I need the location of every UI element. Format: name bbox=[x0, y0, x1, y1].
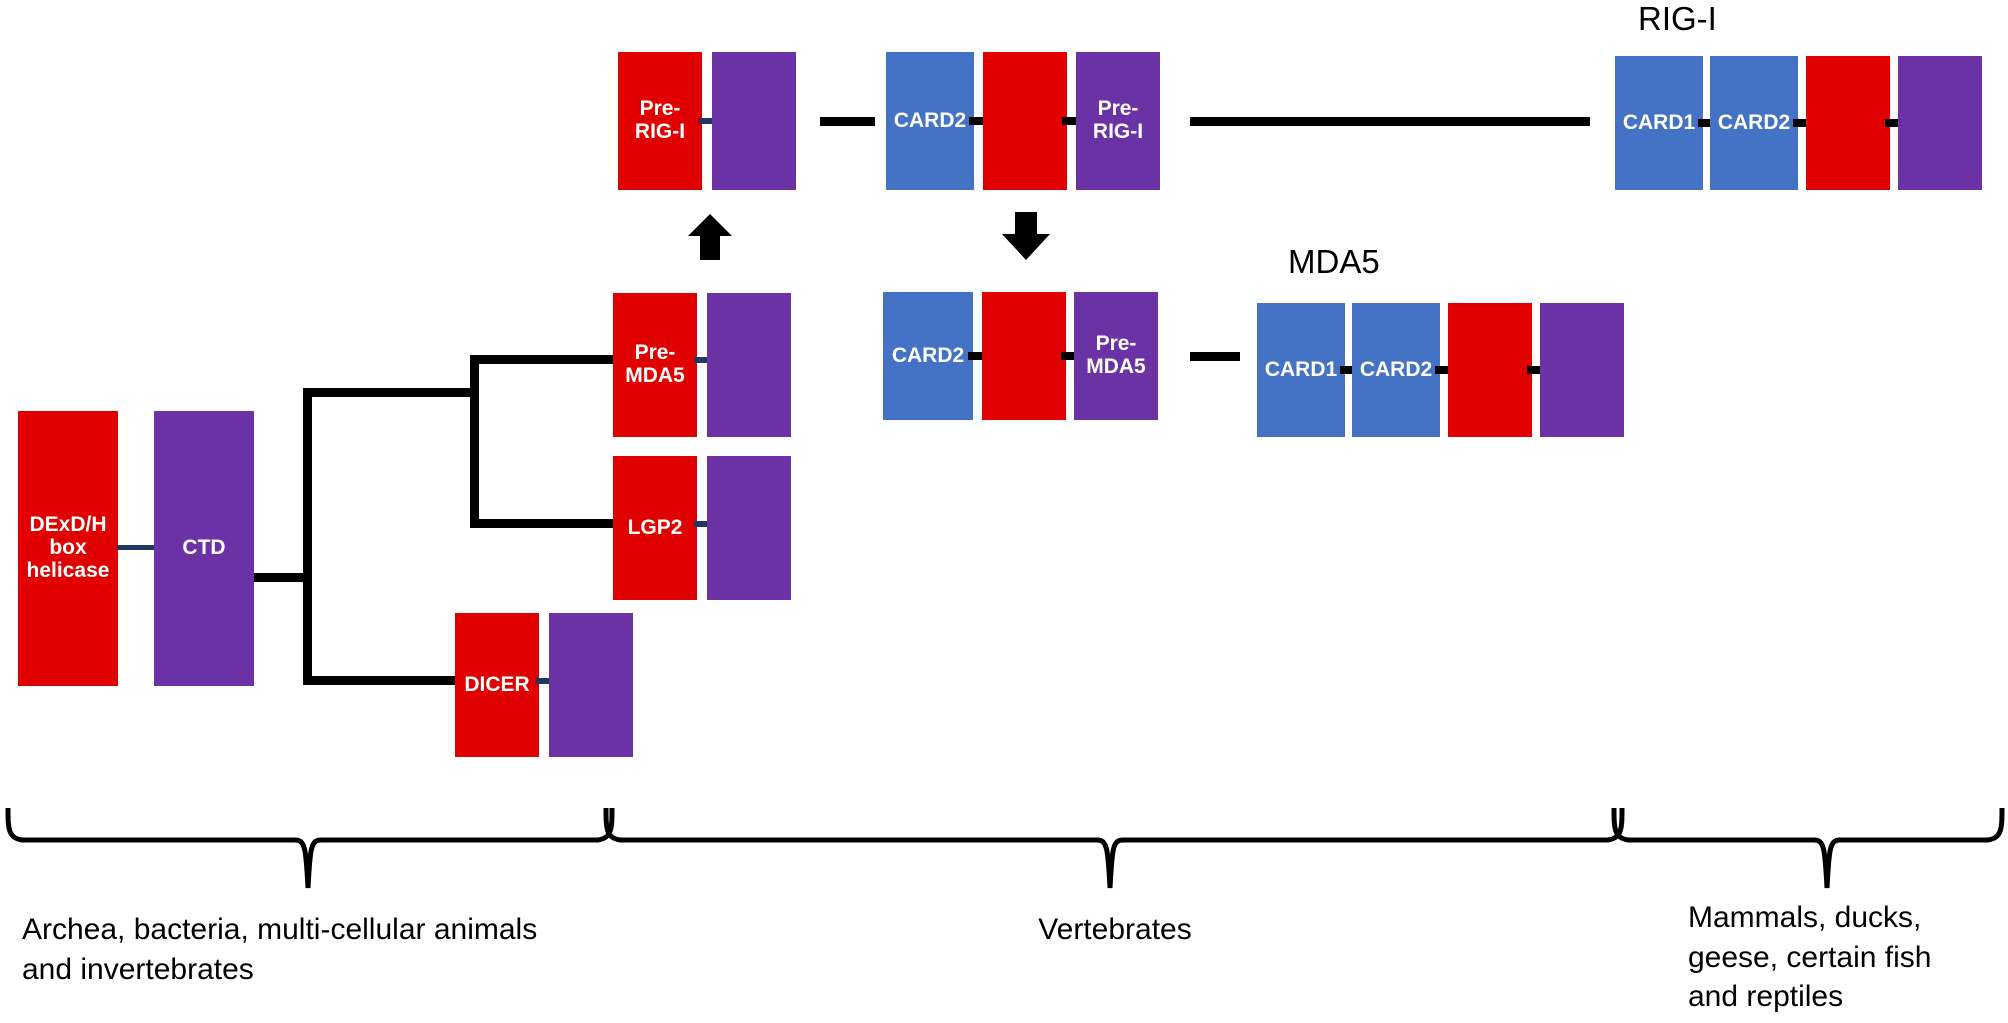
connector-intermediate-to-mda5 bbox=[1190, 352, 1240, 361]
box-rig-i-ctd bbox=[1898, 56, 1982, 190]
box-pre-rig-i: Pre- RIG-I bbox=[618, 52, 702, 190]
tree-branch-upper-vertical bbox=[470, 355, 479, 528]
box-intermediate-rig-i-card2: CARD2 bbox=[886, 52, 974, 190]
box-mda5-helicase bbox=[1448, 303, 1532, 437]
box-rig-i-card2: CARD2 bbox=[1710, 56, 1798, 190]
box-label: Pre- MDA5 bbox=[623, 342, 687, 387]
connector-intermediate-to-rig-i bbox=[1190, 117, 1590, 126]
up-arrow bbox=[686, 212, 734, 262]
box-label: CARD2 bbox=[1358, 359, 1434, 382]
box-intermediate-pre-mda5-ctd: Pre- MDA5 bbox=[1074, 292, 1158, 420]
box-label: DICER bbox=[462, 674, 531, 697]
brace-archea bbox=[0, 800, 620, 900]
box-pre-mda5: Pre- MDA5 bbox=[613, 293, 697, 437]
box-rig-i-helicase bbox=[1806, 56, 1890, 190]
box-label: Pre- RIG-I bbox=[1091, 98, 1145, 143]
box-label: CTD bbox=[180, 537, 227, 560]
box-mda5-ctd bbox=[1540, 303, 1624, 437]
brace-label-archea: Archea, bacteria, multi-cellular animals… bbox=[22, 910, 642, 989]
box-mda5-card2: CARD2 bbox=[1352, 303, 1440, 437]
box-rig-i-card1: CARD1 bbox=[1615, 56, 1703, 190]
box-label: CARD2 bbox=[890, 345, 966, 368]
brace-vertebrates bbox=[600, 800, 1630, 900]
box-intermediate-mda5-helicase bbox=[982, 292, 1066, 420]
box-intermediate-mda5-card2: CARD2 bbox=[883, 292, 973, 420]
brace-label-mammals: Mammals, ducks, geese, certain fish and … bbox=[1688, 898, 2008, 1017]
tree-leaf-lgp2 bbox=[470, 519, 618, 528]
tree-root-vertical bbox=[303, 388, 312, 685]
box-label: LGP2 bbox=[626, 517, 685, 540]
tree-root-stem bbox=[254, 573, 309, 582]
down-arrow bbox=[1000, 210, 1052, 262]
box-dicer: DICER bbox=[455, 613, 539, 757]
box-label: CARD2 bbox=[1716, 112, 1792, 135]
box-dexdh-box-helicase: DExD/H box helicase bbox=[18, 411, 118, 686]
box-pre-mda5-ctd bbox=[707, 293, 791, 437]
link-helicase-ctd bbox=[117, 545, 155, 550]
box-ctd: CTD bbox=[154, 411, 254, 686]
tree-leaf-pre-mda5 bbox=[470, 355, 618, 364]
box-label: CARD1 bbox=[1263, 359, 1339, 382]
box-label: Pre- MDA5 bbox=[1084, 333, 1148, 378]
diagram-canvas: DExD/H box helicase CTD Pre- MDA5 LGP2 D… bbox=[0, 0, 2008, 1023]
box-label: DExD/H box helicase bbox=[25, 514, 112, 582]
box-pre-rig-i-ctd bbox=[712, 52, 796, 190]
box-intermediate-rig-i-helicase bbox=[983, 52, 1067, 190]
box-label: CARD1 bbox=[1621, 112, 1697, 135]
box-lgp2-ctd bbox=[707, 456, 791, 600]
box-label: CARD2 bbox=[892, 110, 968, 133]
box-lgp2: LGP2 bbox=[613, 456, 697, 600]
brace-mammals bbox=[1608, 800, 2008, 900]
brace-label-vertebrates: Vertebrates bbox=[600, 910, 1630, 950]
box-mda5-card1: CARD1 bbox=[1257, 303, 1345, 437]
box-dicer-ctd bbox=[549, 613, 633, 757]
label-rig-i: RIG-I bbox=[1638, 0, 1717, 38]
box-label: Pre- RIG-I bbox=[633, 98, 687, 143]
tree-branch-upper bbox=[303, 388, 478, 397]
box-intermediate-pre-rig-i-ctd: Pre- RIG-I bbox=[1076, 52, 1160, 190]
tree-leaf-dicer bbox=[303, 676, 461, 685]
connector-pre-rig-i-to-intermediate bbox=[820, 117, 875, 126]
label-mda5: MDA5 bbox=[1288, 243, 1380, 281]
